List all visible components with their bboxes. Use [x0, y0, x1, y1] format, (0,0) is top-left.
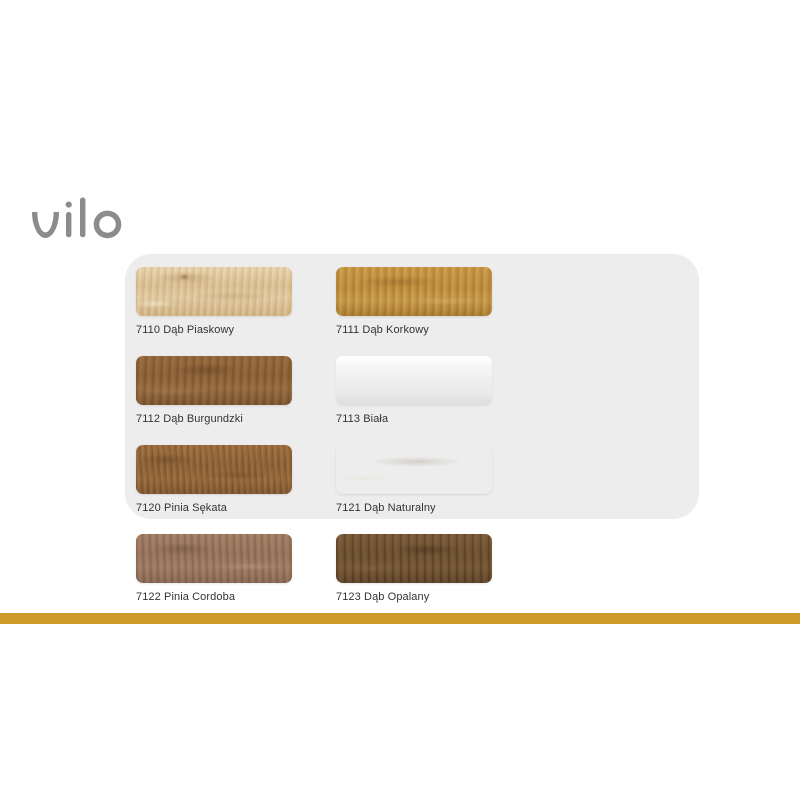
swatch-chip-7110[interactable]: [136, 267, 292, 316]
swatch-item-7123[interactable]: 7123 Dąb Opalany: [336, 534, 536, 623]
swatch-item-7113[interactable]: 7113 Biała: [336, 356, 536, 445]
wood-knot-overlay: [136, 267, 292, 316]
swatch-item-7111[interactable]: 7111 Dąb Korkowy: [336, 267, 536, 356]
wood-grain-overlay: [136, 534, 292, 583]
swatch-label-7111: 7111 Dąb Korkowy: [336, 323, 526, 337]
footer-accent-bar: [0, 613, 800, 624]
swatch-label-7120: 7120 Pinia Sękata: [136, 501, 326, 515]
colour-swatch-panel: 7110 Dąb Piaskowy 7111 Dąb Korkowy 7112 …: [125, 254, 699, 519]
swatch-item-7120[interactable]: 7120 Pinia Sękata: [136, 445, 336, 534]
swatch-label-7112: 7112 Dąb Burgundzki: [136, 412, 326, 426]
vilo-logo: [28, 196, 148, 252]
panel-sheen-overlay: [336, 356, 492, 405]
swatch-chip-7120[interactable]: [136, 445, 292, 494]
swatch-item-7121[interactable]: 7121 Dąb Naturalny: [336, 445, 536, 534]
swatch-label-7113: 7113 Biała: [336, 412, 526, 426]
swatch-item-7110[interactable]: 7110 Dąb Piaskowy: [136, 267, 336, 356]
wood-grain-overlay: [136, 445, 292, 494]
swatch-label-7110: 7110 Dąb Piaskowy: [136, 323, 326, 337]
swatch-label-7123: 7123 Dąb Opalany: [336, 590, 526, 604]
wood-grain-overlay: [336, 534, 492, 583]
wood-grain-overlay: [336, 267, 492, 316]
swatch-item-7112[interactable]: 7112 Dąb Burgundzki: [136, 356, 336, 445]
wood-grain-overlay: [136, 267, 292, 316]
swatch-chip-7113[interactable]: [336, 356, 492, 405]
wood-grain-overlay: [336, 445, 492, 494]
swatch-label-7121: 7121 Dąb Naturalny: [336, 501, 526, 515]
vilo-wordmark-icon: [28, 196, 148, 252]
wood-grain-overlay: [136, 356, 292, 405]
swatch-chip-7112[interactable]: [136, 356, 292, 405]
swatch-chip-7111[interactable]: [336, 267, 492, 316]
swatch-grid: 7110 Dąb Piaskowy 7111 Dąb Korkowy 7112 …: [136, 267, 696, 712]
swatch-chip-7122[interactable]: [136, 534, 292, 583]
swatch-chip-7121[interactable]: [336, 445, 492, 494]
swatch-item-7122[interactable]: 7122 Pinia Cordoba: [136, 534, 336, 623]
swatch-label-7122: 7122 Pinia Cordoba: [136, 590, 326, 604]
swatch-chip-7123[interactable]: [336, 534, 492, 583]
